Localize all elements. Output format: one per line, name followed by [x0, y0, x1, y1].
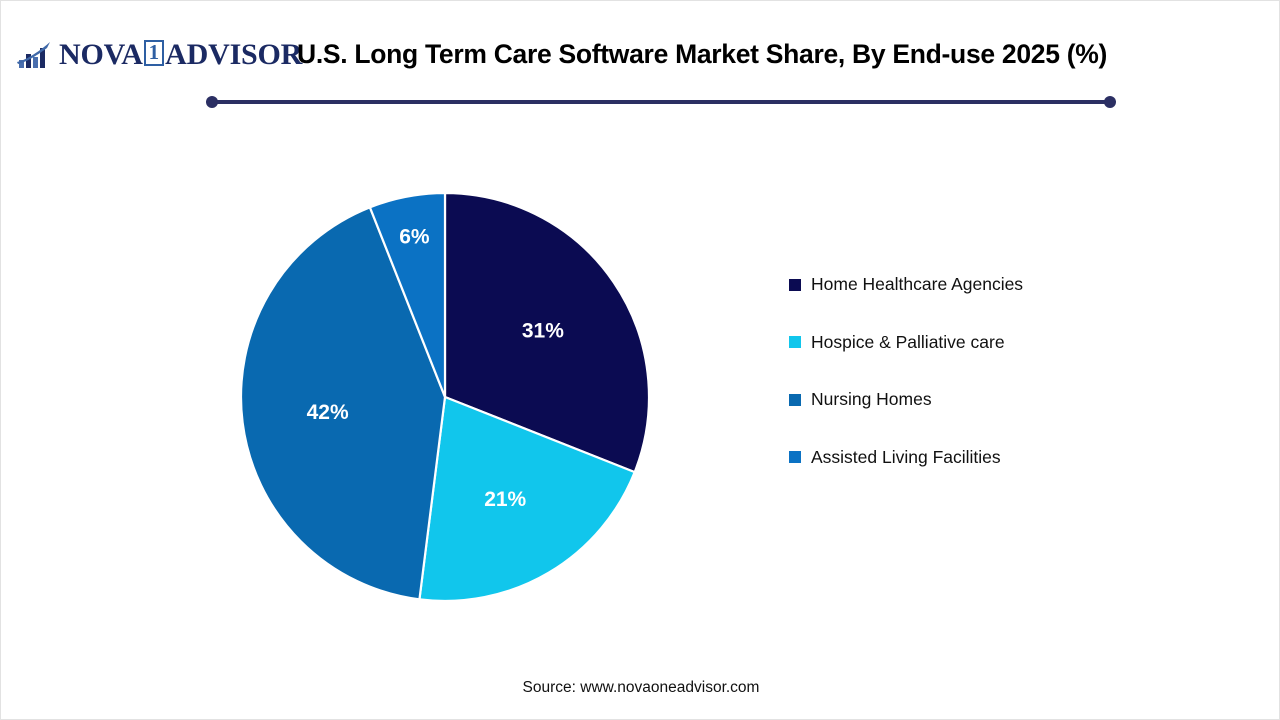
legend-swatch [789, 394, 801, 406]
pie-chart-svg: 31%21%42%6% [231, 183, 661, 613]
chart-legend: Home Healthcare Agencies Hospice & Palli… [789, 256, 1149, 486]
legend-item-home-healthcare-agencies[interactable]: Home Healthcare Agencies [789, 256, 1149, 314]
pie-slice-label: 42% [307, 401, 349, 424]
legend-item-label: Hospice & Palliative care [811, 332, 1005, 353]
chart-canvas: NOVA 1 ADVISOR U.S. Long Term Care Softw… [0, 0, 1280, 720]
pie-slice-label: 21% [484, 488, 526, 511]
logo-badge-one: 1 [144, 40, 165, 66]
legend-item-label: Assisted Living Facilities [811, 447, 1001, 468]
pie-slice-group [241, 193, 649, 601]
title-divider [206, 94, 1116, 110]
bar-chart-swoosh-icon [17, 40, 57, 70]
legend-item-label: Nursing Homes [811, 389, 932, 410]
legend-swatch [789, 279, 801, 291]
pie-slice-label: 31% [522, 319, 564, 342]
legend-item-label: Home Healthcare Agencies [811, 274, 1023, 295]
legend-swatch [789, 336, 801, 348]
legend-item-hospice-palliative-care[interactable]: Hospice & Palliative care [789, 314, 1149, 372]
legend-item-assisted-living-facilities[interactable]: Assisted Living Facilities [789, 429, 1149, 487]
pie-chart: 31%21%42%6% [231, 183, 661, 613]
source-note: Source: www.novaoneadvisor.com [1, 679, 1280, 697]
pie-slice-label: 6% [399, 226, 430, 249]
logo-text-advisor: ADVISOR [165, 40, 302, 70]
chart-title: U.S. Long Term Care Software Market Shar… [297, 39, 1177, 70]
legend-item-nursing-homes[interactable]: Nursing Homes [789, 371, 1149, 429]
legend-swatch [789, 451, 801, 463]
brand-logo: NOVA 1 ADVISOR [17, 35, 302, 75]
logo-text-nova: NOVA [59, 40, 143, 70]
